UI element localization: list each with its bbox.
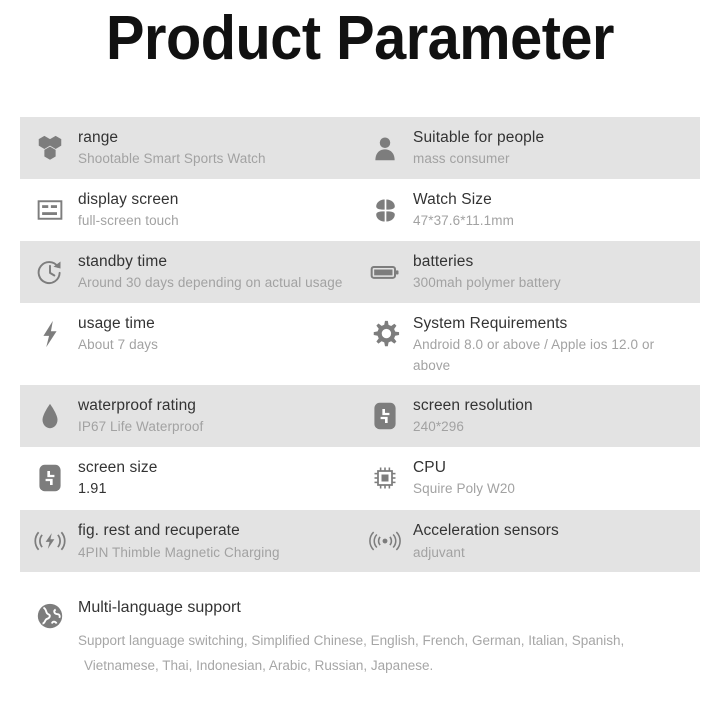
spec-text: display screen full-screen touch [78, 188, 179, 232]
spec-value: 1.91 [78, 479, 158, 501]
spec-label: screen resolution [413, 395, 533, 417]
spec-value: 47*37.6*11.1mm [413, 211, 514, 231]
spec-text: Acceleration sensors adjuvant [413, 519, 559, 563]
spec-label: usage time [78, 313, 158, 335]
spec-cell-left: waterproof rating IP67 Life Waterproof [20, 394, 357, 438]
spec-text: batteries 300mah polymer battery [413, 250, 561, 294]
spec-text: waterproof rating IP67 Life Waterproof [78, 394, 203, 438]
spec-value: mass consumer [413, 149, 544, 169]
spec-value: Shootable Smart Sports Watch [78, 149, 266, 169]
spec-row: fig. rest and recuperate 4PIN Thimble Ma… [20, 510, 700, 572]
spec-table: range Shootable Smart Sports Watch Suita… [20, 70, 700, 572]
spec-text: screen resolution 240*296 [413, 394, 533, 438]
signal-waves-icon [365, 519, 405, 563]
spec-cell-left: screen size 1.91 [20, 456, 357, 501]
spec-value: 300mah polymer battery [413, 273, 561, 293]
spec-value: About 7 days [78, 335, 158, 355]
spec-label: fig. rest and recuperate [78, 520, 280, 542]
screen-brackets-icon [365, 394, 405, 438]
clock-refresh-icon [30, 250, 70, 294]
multi-language-description: Support language switching, Simplified C… [78, 629, 624, 679]
multi-language-line-1: Support language switching, Simplified C… [78, 629, 624, 654]
spec-cell-right: CPU Squire Poly W20 [357, 456, 700, 500]
spec-value: full-screen touch [78, 211, 179, 231]
spec-cell-right: screen resolution 240*296 [357, 394, 700, 438]
spec-label: screen size [78, 457, 158, 479]
spec-cell-left: standby time Around 30 days depending on… [20, 250, 357, 294]
spec-row: screen size 1.91 [20, 447, 700, 510]
spec-label: Acceleration sensors [413, 520, 559, 542]
lightning-bolt-icon [30, 312, 70, 356]
spec-row: display screen full-screen touch Watch S… [20, 179, 700, 241]
spec-label: System Requirements [413, 313, 658, 335]
spec-text: usage time About 7 days [78, 312, 158, 356]
spec-text: range Shootable Smart Sports Watch [78, 126, 266, 170]
spec-text: standby time Around 30 days depending on… [78, 250, 342, 294]
display-panel-icon [30, 188, 70, 232]
spec-cell-right: Acceleration sensors adjuvant [357, 519, 700, 563]
spec-cell-right: Watch Size 47*37.6*11.1mm [357, 188, 700, 232]
spec-cell-left: display screen full-screen touch [20, 188, 357, 232]
spec-value: Squire Poly W20 [413, 479, 515, 499]
spec-cell-left: range Shootable Smart Sports Watch [20, 126, 357, 170]
spec-label: range [78, 127, 266, 149]
water-drop-icon [30, 394, 70, 438]
spec-text: CPU Squire Poly W20 [413, 456, 515, 500]
gear-icon [365, 312, 405, 356]
multi-language-title: Multi-language support [78, 596, 624, 620]
spec-row: standby time Around 30 days depending on… [20, 241, 700, 303]
spec-label: CPU [413, 457, 515, 479]
person-icon [365, 126, 405, 170]
spec-cell-right: System Requirements Android 8.0 or above… [357, 312, 700, 376]
multi-language-line-2: Vietnamese, Thai, Indonesian, Arabic, Ru… [78, 654, 624, 679]
cpu-chip-icon [365, 456, 405, 500]
multi-language-text: Multi-language support Support language … [78, 594, 624, 679]
spec-row: usage time About 7 days System Requireme… [20, 303, 700, 385]
spec-cell-left: fig. rest and recuperate 4PIN Thimble Ma… [20, 519, 357, 563]
spec-value: adjuvant [413, 543, 559, 563]
spec-label: Watch Size [413, 189, 514, 211]
spec-label: standby time [78, 251, 342, 273]
spec-label: waterproof rating [78, 395, 203, 417]
spec-text: screen size 1.91 [78, 456, 158, 501]
spec-cell-left: usage time About 7 days [20, 312, 357, 356]
four-petal-icon [365, 188, 405, 232]
page-title: Product Parameter [25, 0, 695, 70]
spec-cell-right: batteries 300mah polymer battery [357, 250, 700, 294]
spec-row: range Shootable Smart Sports Watch Suita… [20, 117, 700, 179]
spec-value: Around 30 days depending on actual usage [78, 273, 342, 293]
spec-value: Android 8.0 or above / Apple ios 12.0 or… [413, 335, 658, 376]
spec-text: Watch Size 47*37.6*11.1mm [413, 188, 514, 232]
spec-value: 4PIN Thimble Magnetic Charging [78, 543, 280, 563]
spec-label: display screen [78, 189, 179, 211]
battery-icon [365, 250, 405, 294]
spec-value: 240*296 [413, 417, 533, 437]
spec-text: fig. rest and recuperate 4PIN Thimble Ma… [78, 519, 280, 563]
spec-cell-right: Suitable for people mass consumer [357, 126, 700, 170]
spec-label: Suitable for people [413, 127, 544, 149]
spec-text: System Requirements Android 8.0 or above… [413, 312, 658, 376]
globe-icon [30, 594, 70, 638]
multi-language-section: Multi-language support Support language … [20, 594, 700, 679]
hexagon-cluster-icon [30, 126, 70, 170]
spec-text: Suitable for people mass consumer [413, 126, 544, 170]
spec-value: IP67 Life Waterproof [78, 417, 203, 437]
spec-row: waterproof rating IP67 Life Waterproof s… [20, 385, 700, 447]
spec-label: batteries [413, 251, 561, 273]
screen-brackets-icon [30, 456, 70, 500]
wireless-charging-icon [30, 519, 70, 563]
product-parameter-sheet: Product Parameter range Shootable Smart … [0, 0, 720, 720]
